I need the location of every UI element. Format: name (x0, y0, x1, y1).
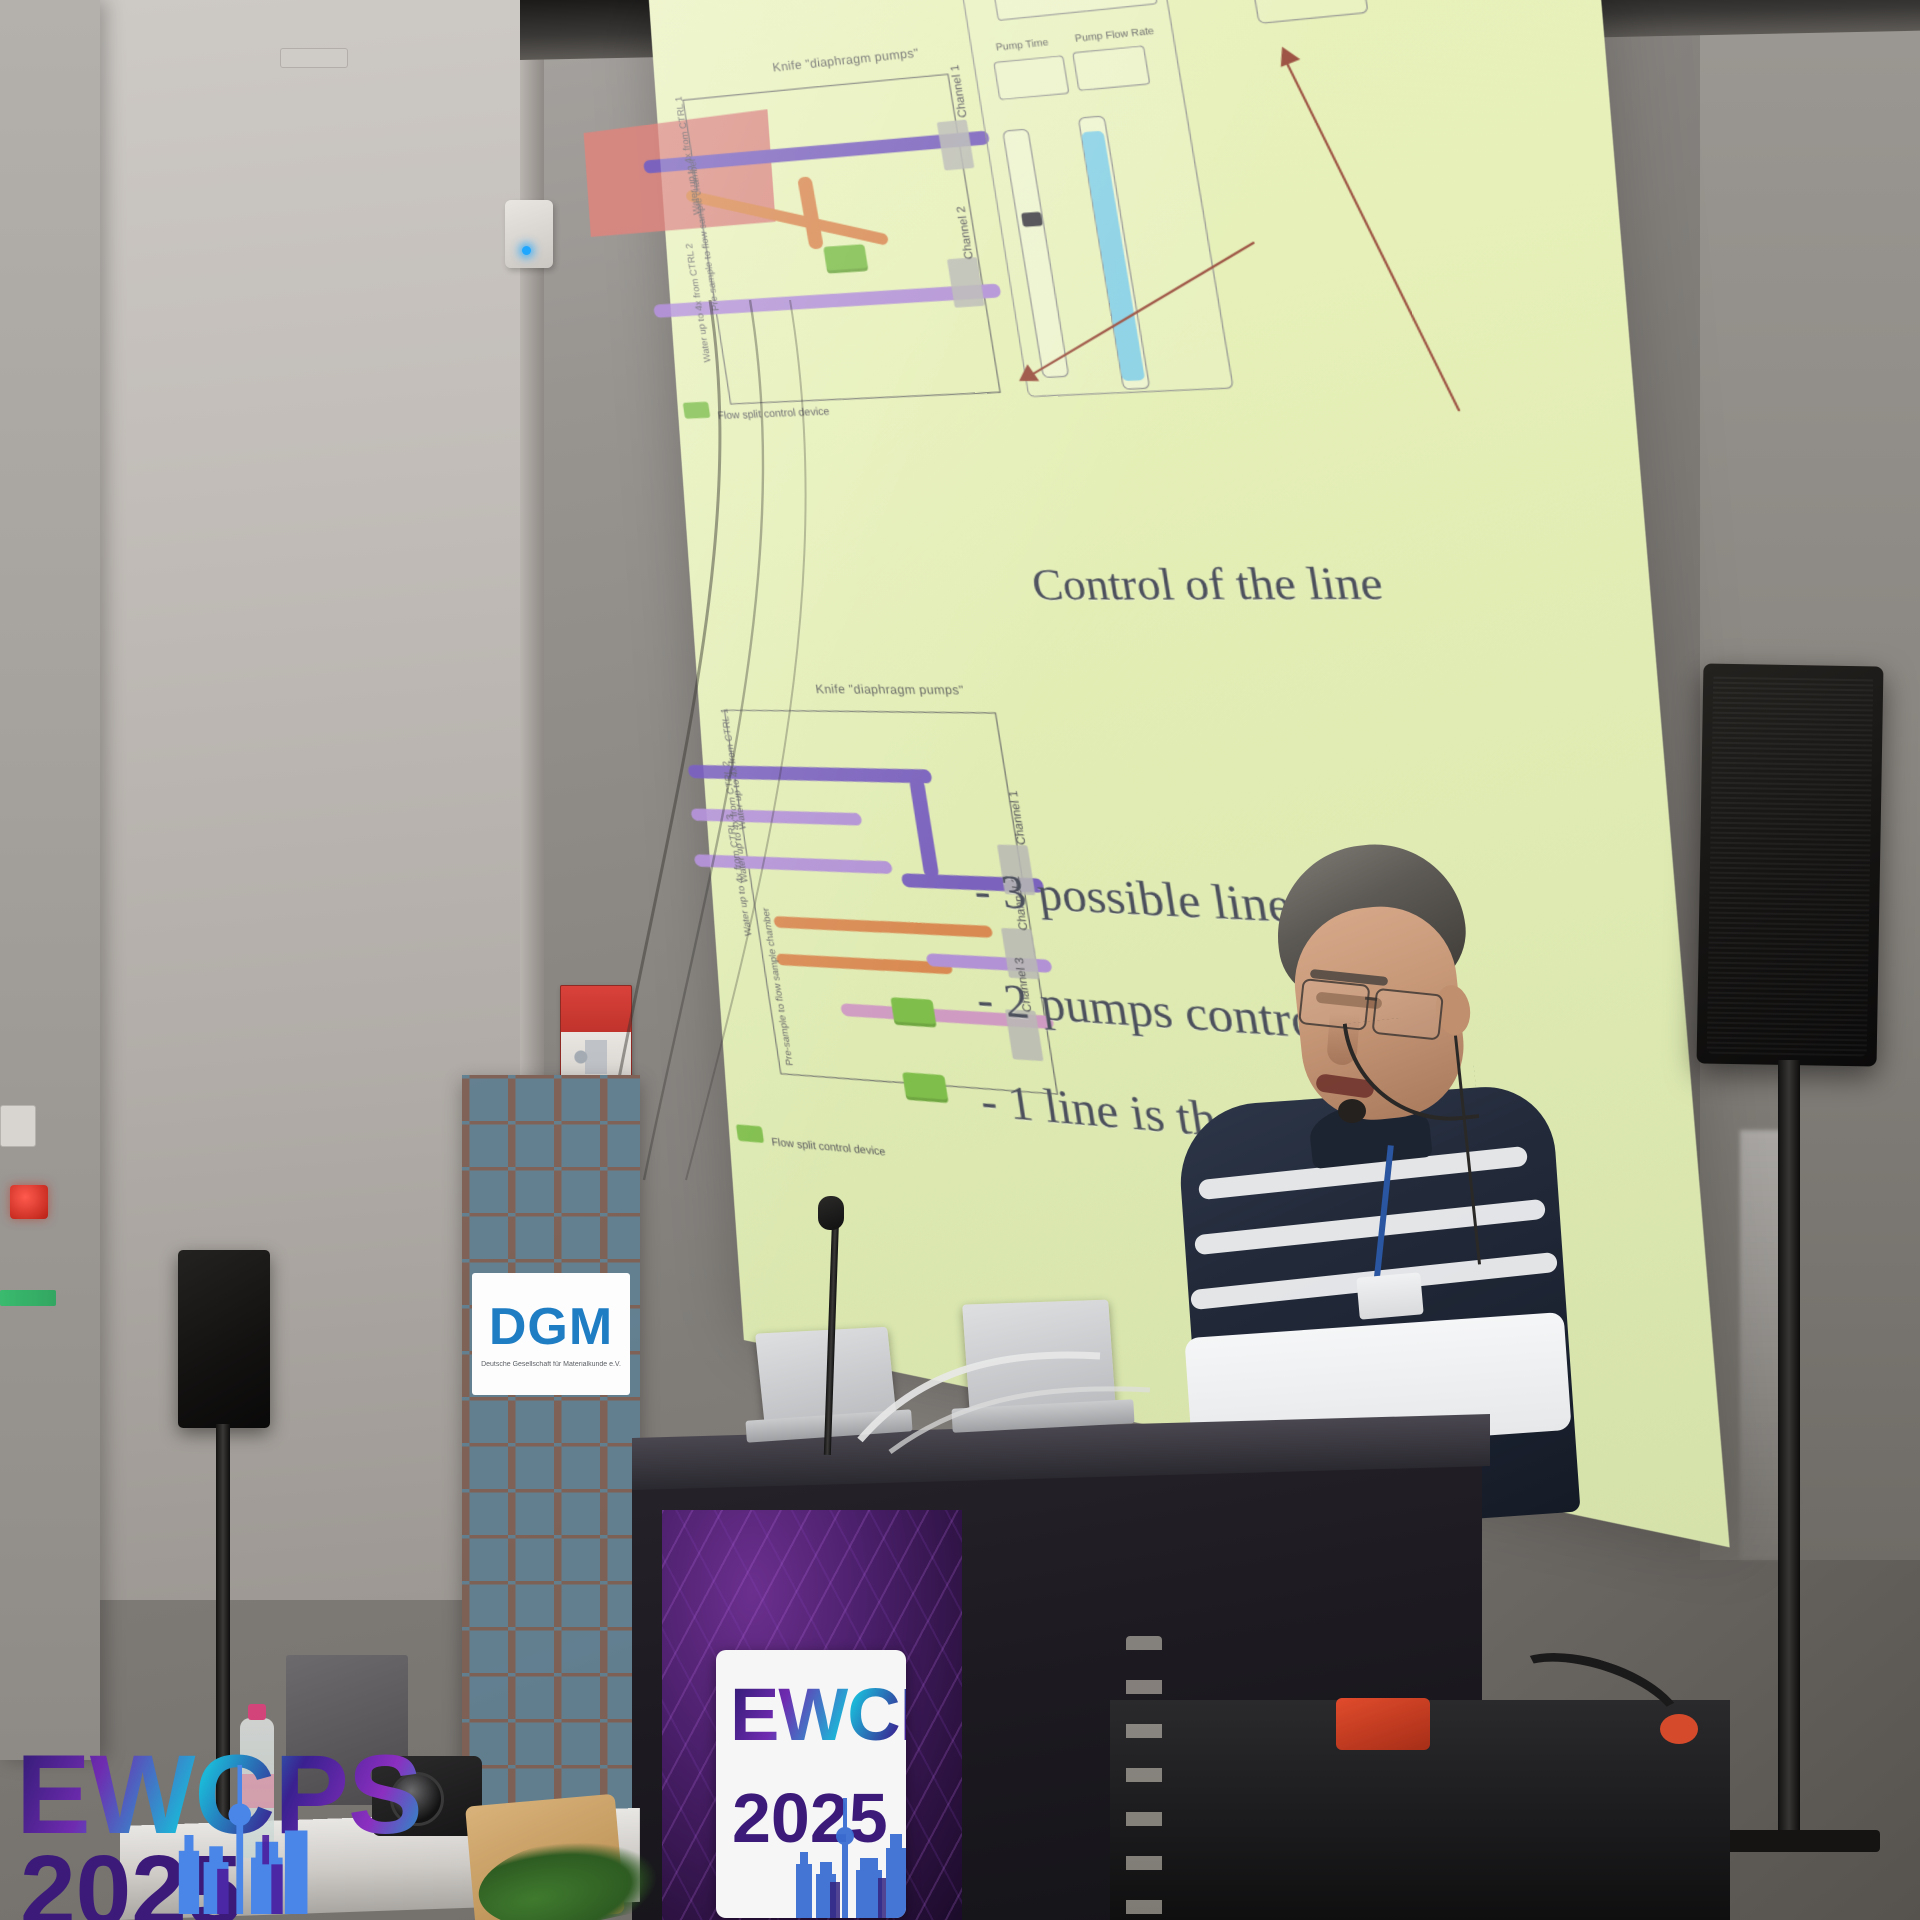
podium-logo-wordmark: EWCPS (730, 1672, 906, 1757)
fire-alarm-icon (10, 1185, 48, 1219)
dgm-rollup-banner: DGM Deutsche Gesellschaft für Materialku… (462, 1075, 640, 1875)
annotation-control-of-the-line: Control of the line (1028, 556, 1386, 611)
speaker-grill-icon (1707, 674, 1874, 1057)
annotation-arrow-2-shaft (1284, 60, 1460, 411)
dgm-logo-subtitle: Deutsche Gesellschaft für Materialkunde … (481, 1361, 621, 1368)
red-device (1336, 1698, 1430, 1750)
ui-pump-time-field (993, 55, 1069, 100)
podium-microphone-head-icon (818, 1196, 844, 1230)
headset-mic-capsule-icon (1338, 1099, 1366, 1123)
bottle-cap-icon (248, 1704, 266, 1720)
spare-headset (1500, 1660, 1710, 1770)
room-wall-left-panel (0, 0, 100, 1760)
podium-ewcps-card: EWCPS 2025 (716, 1650, 906, 1918)
loudspeaker-right (1697, 663, 1884, 1066)
speaker-stand-right (1778, 1060, 1800, 1840)
flow-split-valve-top (823, 244, 868, 274)
wall-socket-icon (0, 1105, 36, 1147)
sensor-led-icon (522, 246, 531, 255)
ui-pump-flowrate-field (1072, 45, 1150, 91)
hanging-cables (600, 300, 1080, 1200)
wall-sensor-device (505, 200, 553, 268)
ewcps-watermark-logo: EWCPS 2025 (16, 1730, 316, 1910)
headset-earpad-icon (1660, 1714, 1698, 1744)
annotation-arrow-2-head (1272, 43, 1300, 67)
dgm-logo-card: DGM Deutsche Gesellschaft für Materialku… (472, 1273, 630, 1395)
presentation-photo-scene: Knife "diaphragm pumps" Channel 1 Channe… (0, 0, 1920, 1920)
channel-port-1-top (937, 120, 975, 171)
ui-thumb-panel-1 (1234, 0, 1369, 24)
green-emergency-light (0, 1290, 56, 1306)
podium-ventilation-holes (1126, 1636, 1162, 1920)
loudspeaker-left (178, 1250, 270, 1428)
banner-hex-collage (462, 1075, 640, 1875)
ceiling-vent-icon (280, 48, 348, 68)
top-diagram-title: Knife "diaphragm pumps" (772, 45, 920, 74)
watermark-skyline-icon (156, 1756, 328, 1914)
podium-cables (850, 1330, 1180, 1460)
dgm-logo-text: DGM (489, 1301, 613, 1353)
ui-slider-left-knob (1021, 212, 1043, 227)
name-badge (1356, 1272, 1423, 1319)
berlin-skyline-icon (790, 1778, 906, 1918)
